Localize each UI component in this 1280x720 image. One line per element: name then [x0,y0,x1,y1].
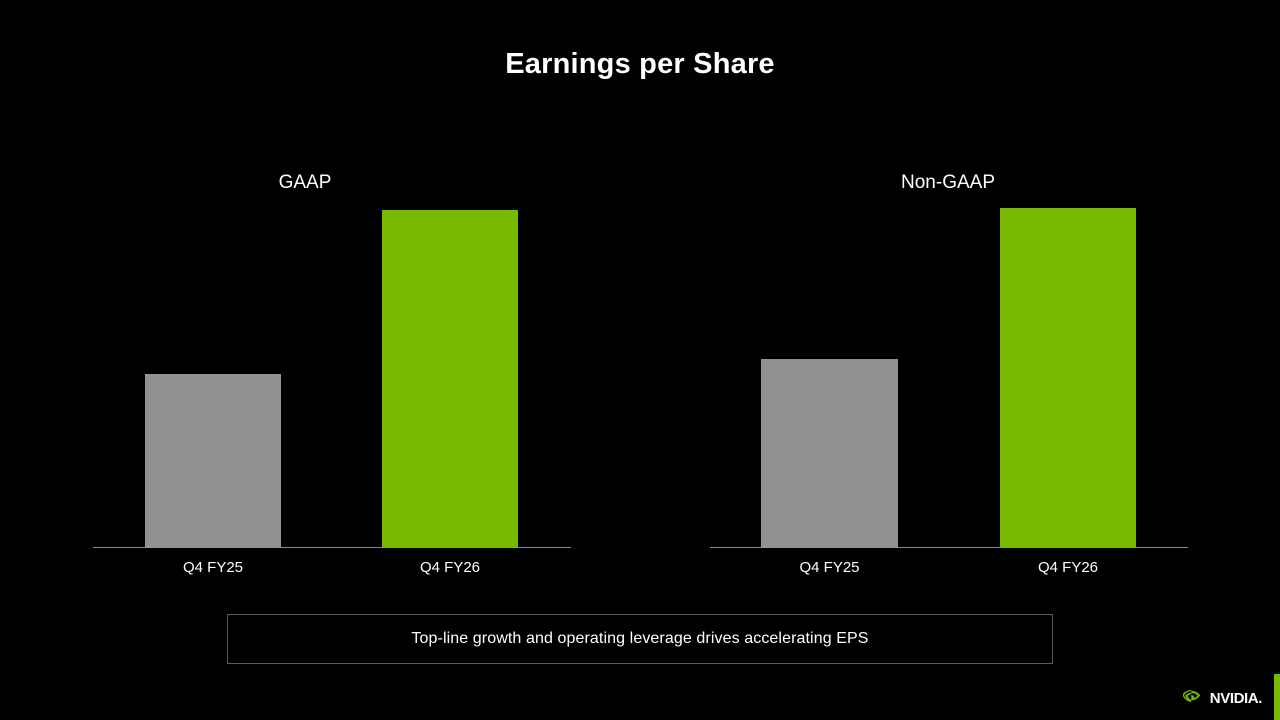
bar-category-label: Q4 FY26 [420,559,480,576]
bar-rect [761,359,898,548]
bar-category-label: Q4 FY25 [183,559,243,576]
bar-rect [1000,208,1136,548]
bar-category-label: Q4 FY26 [1038,559,1098,576]
panel-label-non-gaap: Non-GAAP [901,172,995,194]
nvidia-wordmark: NVIDIA. [1210,691,1262,706]
bar-rect [145,374,281,548]
chart-panel-gaap: GAAP $0.89 Q4 FY25 $1.76 Q4 FY26 [93,160,571,580]
slide-canvas: Earnings per Share GAAP $0.89 Q4 FY25 $1… [0,0,1280,720]
nvidia-logo: NVIDIA. [1183,688,1262,708]
page-title: Earnings per Share [0,48,1280,81]
brand-accent-bar [1274,674,1280,720]
caption-box: Top-line growth and operating leverage d… [227,614,1053,664]
caption-text: Top-line growth and operating leverage d… [411,630,868,648]
nvidia-eye-icon [1183,688,1205,708]
panel-label-gaap: GAAP [279,172,332,194]
bar-category-label: Q4 FY25 [799,559,859,576]
chart-panel-non-gaap: Non-GAAP $0.89 Q4 FY25 $1.62 Q4 FY26 [710,160,1188,580]
bar-rect [382,210,518,548]
